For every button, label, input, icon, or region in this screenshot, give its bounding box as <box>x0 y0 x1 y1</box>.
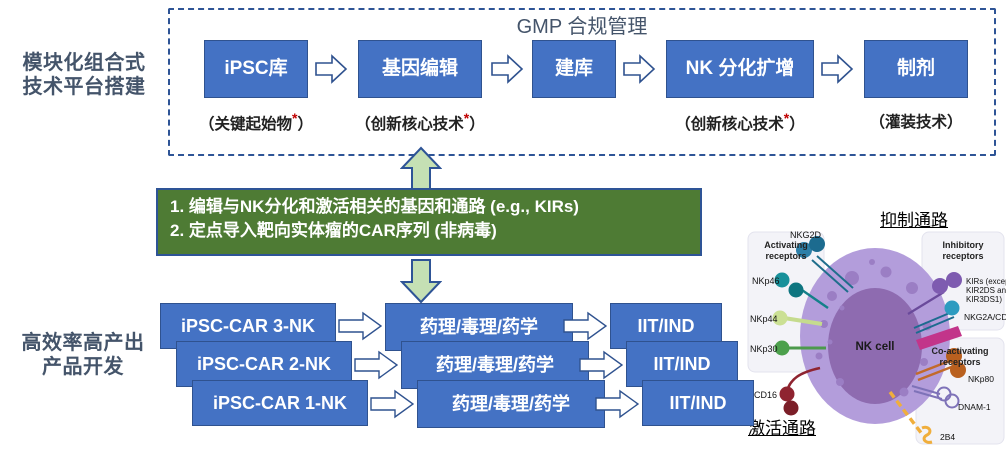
gene-edit-callout: 1. 编辑与NK分化和激活相关的基因和通路 (e.g., KIRs) 2. 定点… <box>156 188 702 256</box>
nk-receptor-label-kirs-line1: KIRs (except <box>966 277 1006 286</box>
stage-box-row3-label: IIT/IND <box>638 316 695 337</box>
process-box-bank-label: 建库 <box>555 58 593 80</box>
nk-receptor-label-nkg2a-cd94: NKG2A/CD94 <box>964 312 1006 322</box>
nk-receptor-label-nkp44: NKp44 <box>750 314 778 324</box>
gmp-title: GMP 合规管理 <box>168 10 996 39</box>
process-box-gene-editing[interactable]: 基因编辑 <box>358 40 482 98</box>
nk-receptor-label-kirs-line2: KIR2DS and <box>966 286 1006 295</box>
arrow-up-icon <box>400 146 442 192</box>
study-box-row1-label: 药理/毒理/药学 <box>452 394 570 415</box>
svg-text:receptors: receptors <box>942 251 983 261</box>
caption-nk-text: （创新核心技术 <box>675 116 784 133</box>
caption-ipsc-suffix: ） <box>297 116 313 133</box>
product-box-car3-label: iPSC-CAR 3-NK <box>181 316 315 337</box>
nk-receptor-label-nkg2d: NKG2D <box>790 230 822 240</box>
nk-receptor-label-kirs-line3: KIR3DS1) <box>966 295 1002 304</box>
nk-receptor-label-nkp30: NKp30 <box>750 344 778 354</box>
arrow-down-icon <box>400 258 442 304</box>
arrow-right-icon <box>579 350 623 380</box>
arrow-right-icon <box>370 389 414 419</box>
stage-box-row1-label: IIT/IND <box>670 393 727 414</box>
process-box-formulation[interactable]: 制剂 <box>864 40 968 98</box>
caption-formulation-text: （灌装技术 <box>869 114 947 131</box>
svg-text:Activating: Activating <box>764 240 808 250</box>
product-label-line2: 产品开发 <box>2 356 164 380</box>
arrow-right-icon <box>595 389 639 419</box>
section-label-product: 高效率高产出 产品开发 <box>2 332 164 379</box>
caption-nk-suffix: ） <box>789 116 805 133</box>
arrow-right-icon <box>563 311 607 341</box>
nk-receptor-label-dnam1: DNAM-1 <box>958 402 991 412</box>
diagram-canvas: 模块化组合式 技术平台搭建 高效率高产出 产品开发 GMP 合规管理 iPSC库… <box>0 0 1007 452</box>
product-box-car1-label: iPSC-CAR 1-NK <box>213 393 347 414</box>
caption-gene-editing: （创新核心技术*） <box>330 110 510 134</box>
nk-receptor-label-2b4: 2B4 <box>940 432 955 442</box>
arrow-right-icon <box>490 53 524 85</box>
product-box-car1[interactable]: iPSC-CAR 1-NK <box>192 380 368 426</box>
caption-gene-editing-text: （创新核心技术 <box>355 116 464 133</box>
arrow-right-icon <box>314 53 348 85</box>
platform-label-line2: 技术平台搭建 <box>4 76 164 100</box>
process-box-nk-differentiation[interactable]: NK 分化扩增 <box>666 40 814 98</box>
caption-gene-editing-suffix: ） <box>469 116 485 133</box>
caption-formulation-suffix: ） <box>947 114 963 131</box>
svg-text:Co-activating: Co-activating <box>931 346 988 356</box>
nk-cell-label: NK cell <box>856 341 895 353</box>
study-box-row1[interactable]: 药理/毒理/药学 <box>417 380 605 428</box>
caption-formulation: （灌装技术） <box>848 110 984 132</box>
caption-nk-differentiation: （创新核心技术*） <box>638 110 842 134</box>
svg-text:receptors: receptors <box>939 357 980 367</box>
nk-receptor-label-nkp80: NKp80 <box>968 374 994 384</box>
nk-receptor-label-nkp46: NKp46 <box>752 276 780 286</box>
study-box-row3-label: 药理/毒理/药学 <box>420 317 538 338</box>
study-box-row2-label: 药理/毒理/药学 <box>436 355 554 376</box>
gene-edit-line2: 2. 定点导入靶向实体瘤的CAR序列 (非病毒) <box>170 219 690 243</box>
arrow-right-icon <box>820 53 854 85</box>
arrow-right-icon <box>354 350 398 380</box>
stage-box-row1[interactable]: IIT/IND <box>642 380 754 426</box>
caption-ipsc-text: （关键起始物 <box>199 116 292 133</box>
arrow-right-icon <box>338 311 382 341</box>
platform-label-line1: 模块化组合式 <box>4 52 164 76</box>
process-box-nk-differentiation-label: NK 分化扩增 <box>686 58 795 80</box>
svg-text:Inhibitory: Inhibitory <box>943 240 984 250</box>
process-box-gene-editing-label: 基因编辑 <box>382 58 458 80</box>
nk-cell-illustration: Activating receptors Inhibitory receptor… <box>744 196 1006 452</box>
process-box-bank[interactable]: 建库 <box>532 40 616 98</box>
arrow-right-icon <box>622 53 656 85</box>
section-label-platform: 模块化组合式 技术平台搭建 <box>4 52 164 99</box>
gene-edit-line1: 1. 编辑与NK分化和激活相关的基因和通路 (e.g., KIRs) <box>170 195 690 219</box>
process-box-ipsc[interactable]: iPSC库 <box>204 40 308 98</box>
caption-ipsc: （关键起始物*） <box>188 110 324 134</box>
svg-text:receptors: receptors <box>765 251 806 261</box>
nk-receptor-label-cd16: CD16 <box>754 390 777 400</box>
stage-box-row2-label: IIT/IND <box>654 354 711 375</box>
process-box-formulation-label: 制剂 <box>897 58 935 80</box>
process-box-ipsc-label: iPSC库 <box>224 58 287 80</box>
product-box-car2-label: iPSC-CAR 2-NK <box>197 354 331 375</box>
product-label-line1: 高效率高产出 <box>2 332 164 356</box>
